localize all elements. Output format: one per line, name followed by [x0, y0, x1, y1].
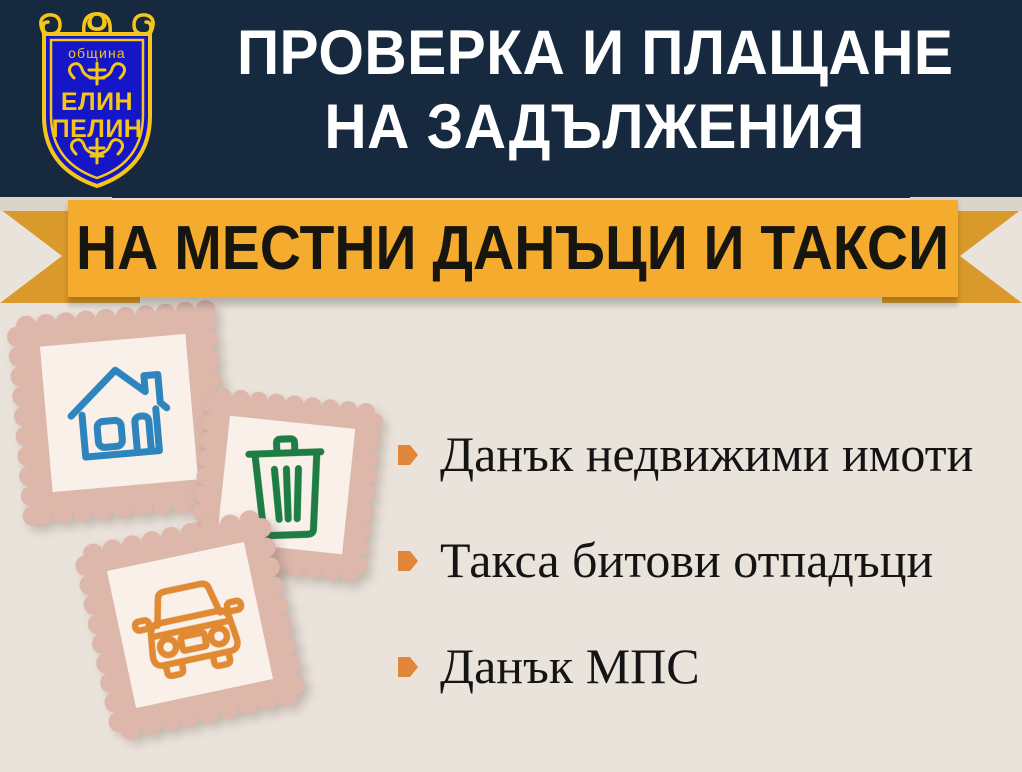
tax-type-list: Данък недвижими имоти Такса битови отпад…	[398, 418, 1008, 736]
poster-title: ПРОВЕРКА И ПЛАЩАНЕ НА ЗАДЪЛЖЕНИЯ	[185, 16, 1005, 186]
list-item-label: Данък МПС	[440, 638, 700, 694]
title-line-1: ПРОВЕРКА И ПЛАЩАНЕ	[237, 16, 954, 90]
arrow-bullet-icon	[398, 655, 418, 679]
ribbon-panel: НА МЕСТНИ ДАНЪЦИ И ТАКСИ	[68, 200, 958, 297]
poster-root: община ЕЛИН ПЕЛИН ПРОВЕРКА И ПЛ	[0, 0, 1022, 772]
municipality-crest: община ЕЛИН ПЕЛИН	[22, 8, 172, 190]
list-item[interactable]: Данък МПС	[398, 630, 1008, 702]
arrow-bullet-icon	[398, 549, 418, 573]
list-item-label: Данък недвижими имоти	[440, 426, 973, 482]
list-item[interactable]: Данък недвижими имоти	[398, 418, 1008, 490]
crest-name-line-1: ЕЛИН	[61, 88, 133, 116]
ribbon-text: НА МЕСТНИ ДАНЪЦИ И ТАКСИ	[76, 218, 949, 280]
arrow-bullet-icon	[398, 443, 418, 467]
car-stamp	[71, 506, 308, 743]
header-bar: община ЕЛИН ПЕЛИН ПРОВЕРКА И ПЛ	[0, 0, 1022, 198]
title-line-2: НА ЗАДЪЛЖЕНИЯ	[325, 90, 866, 164]
list-item-label: Такса битови отпадъци	[440, 532, 933, 588]
list-item[interactable]: Такса битови отпадъци	[398, 524, 1008, 596]
stamp-group	[0, 300, 420, 770]
crest-top-text: община	[68, 45, 126, 61]
ribbon-shadow	[68, 297, 958, 307]
ribbon-banner: НА МЕСТНИ ДАНЪЦИ И ТАКСИ	[0, 197, 1022, 307]
